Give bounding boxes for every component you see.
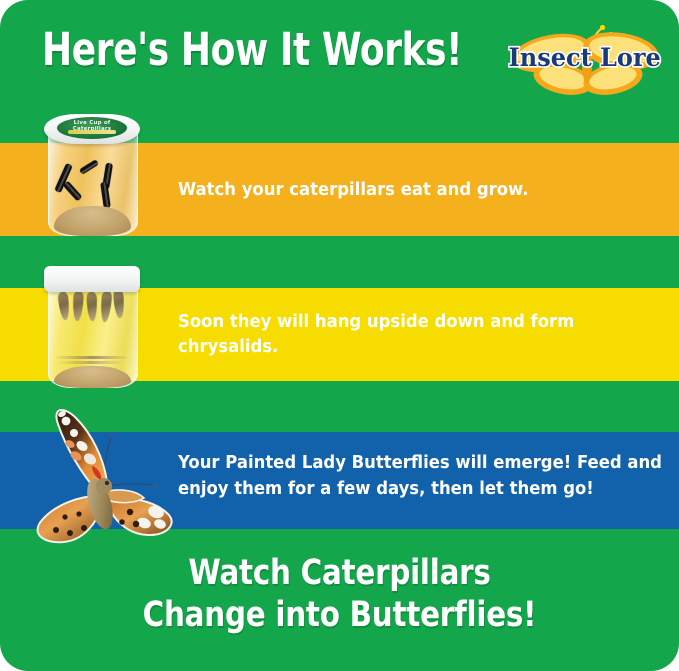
page-title: Here's How It Works! [42, 24, 462, 76]
poster-header: Here's How It Works! [0, 0, 679, 110]
painted-lady-butterfly-photo [8, 404, 188, 569]
insect-lore-logo: Insect Lore [505, 21, 665, 101]
logo-wordmark: Insect Lore [509, 43, 661, 73]
logo-butterfly-icon: Insect Lore [505, 21, 665, 101]
footer-line-2: Change into Butterflies! [54, 594, 624, 636]
step-2-text: Soon they will hang upside down and form… [178, 310, 667, 360]
chrysalid-cup-photo [40, 262, 144, 390]
caterpillar-cup-photo: Live Cup of Caterpillars [40, 108, 144, 238]
step-3-text: Your Painted Lady Butterflies will emerg… [178, 450, 676, 502]
footer-line-1: Watch Caterpillars [54, 552, 624, 594]
poster-root: Here's How It Works! [0, 0, 679, 671]
lid-label-bar [68, 130, 116, 134]
poster-footer: Watch Caterpillars Change into Butterfli… [0, 552, 679, 636]
svg-text:Insect Lore: Insect Lore [509, 43, 661, 73]
step-1-text: Watch your caterpillars eat and grow. [178, 178, 667, 203]
